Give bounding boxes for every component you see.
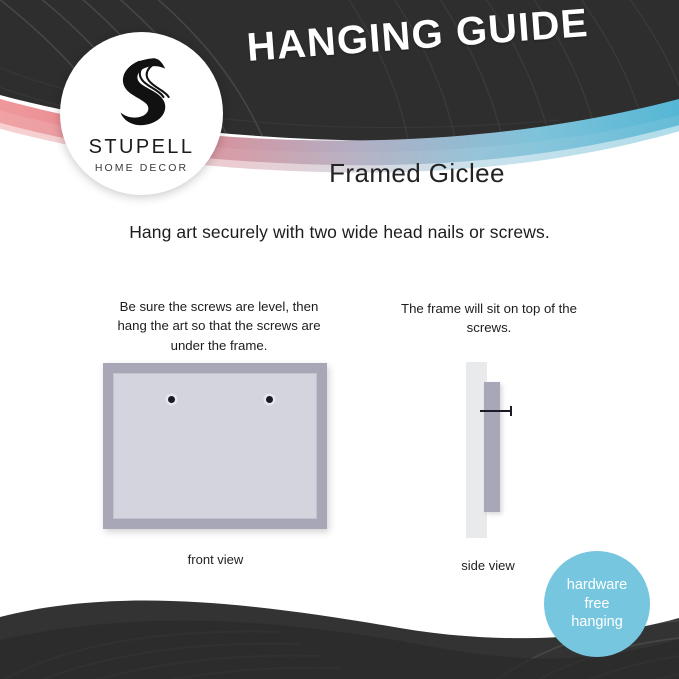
front-view-label: front view <box>113 552 318 567</box>
screw-dot-right-icon <box>266 396 273 403</box>
front-view-caption: Be sure the screws are level, then hang … <box>108 297 330 355</box>
brand-logo-badge: STUPELL HOME DECOR <box>60 32 223 195</box>
front-view-artwork-mat <box>113 373 317 519</box>
main-instruction-text: Hang art securely with two wide head nai… <box>0 222 679 243</box>
side-view-label: side view <box>418 558 558 573</box>
side-view-frame <box>484 382 500 512</box>
brand-wordmark: STUPELL <box>60 136 223 159</box>
front-view-diagram <box>103 363 327 529</box>
brand-tagline: HOME DECOR <box>60 162 223 174</box>
hanging-guide-page: HANGING GUIDE STUPELL HOME DECOR Framed … <box>0 0 679 679</box>
stupell-swirl-icon <box>99 48 185 134</box>
screw-dot-left-icon <box>168 396 175 403</box>
side-view-screw-shank-icon <box>480 410 511 412</box>
side-view-caption: The frame will sit on top of the screws. <box>393 299 585 338</box>
side-view-diagram <box>466 362 522 538</box>
side-view-screw-head-icon <box>510 406 512 416</box>
hardware-free-hanging-badge-text: hardware free hanging <box>567 576 627 632</box>
hardware-free-hanging-badge: hardware free hanging <box>544 551 650 657</box>
